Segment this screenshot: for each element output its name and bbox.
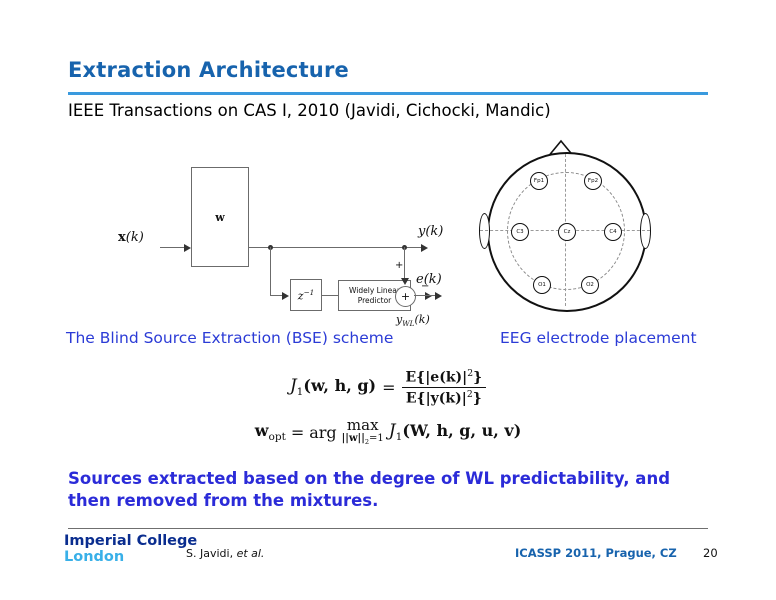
- imperial-college-logo: Imperial College London: [64, 533, 197, 565]
- logo-line-2: London: [64, 549, 197, 565]
- equation1-equals: =: [382, 378, 395, 397]
- page-title: Extraction Architecture: [68, 58, 349, 82]
- summing-junction: +: [395, 286, 416, 307]
- footer-page-number: 20: [703, 546, 718, 560]
- electrode-o1-label: O1: [538, 282, 546, 288]
- footer-divider: [68, 528, 708, 529]
- delay-block-label: z−1: [298, 288, 314, 303]
- electrode-c3[interactable]: C3: [511, 223, 529, 241]
- logo-line-1: Imperial College: [64, 533, 197, 549]
- page-subtitle: IEEE Transactions on CAS I, 2010 (Javidi…: [68, 101, 551, 120]
- electrode-c4[interactable]: C4: [604, 223, 622, 241]
- electrode-cz-label: Cz: [564, 229, 571, 235]
- title-divider: [68, 92, 708, 95]
- weight-block-label: w: [215, 211, 224, 224]
- bse-block-diagram: x(k) w y(k) z−1 Widely Linear Predicto: [118, 150, 448, 330]
- feedback-wire-down: [404, 247, 405, 279]
- equation2-max-label: max: [347, 418, 379, 433]
- equation1-lhs: J1(w, h, g): [290, 376, 376, 398]
- input-wire: [160, 247, 186, 248]
- equation-optimization: wopt = arg max ||w||2=1 J1(W, h, g, u, v…: [0, 418, 776, 446]
- ear-right-icon: [640, 213, 651, 249]
- equation2-max-operator: max ||w||2=1: [342, 418, 384, 446]
- footer-author-etal: et al.: [237, 547, 265, 560]
- output-wire: [249, 247, 424, 248]
- weight-block: w: [191, 167, 249, 267]
- footer-conference: ICASSP 2011, Prague, CZ: [515, 546, 677, 560]
- figures-region: x(k) w y(k) z−1 Widely Linear Predicto: [0, 140, 776, 355]
- ear-left-icon: [479, 213, 490, 249]
- predictor-label-line2: Predictor: [358, 296, 392, 305]
- caption-eeg-placement: EEG electrode placement: [500, 329, 697, 347]
- equations-region: J1(w, h, g) = E{|e(k)|2} E{|y(k)|2} wopt…: [0, 368, 776, 446]
- electrode-fp1-label: Fp1: [534, 178, 544, 184]
- summing-junction-symbol: +: [401, 290, 410, 303]
- equation2-lhs: wopt: [255, 421, 286, 443]
- input-signal-label: x(k): [118, 230, 144, 245]
- footer-author: S. Javidi, et al.: [186, 547, 264, 560]
- delay-to-predictor-wire: [322, 295, 338, 296]
- equation1-denominator: E{|y(k)|2}: [402, 387, 486, 407]
- delay-block: z−1: [290, 279, 322, 311]
- error-arrowhead: [435, 292, 442, 300]
- equation2-objective: J1(W, h, g, u, v): [389, 421, 521, 443]
- equation1-fraction: E{|e(k)|2} E{|y(k)|2}: [402, 368, 487, 406]
- branch-wire-down: [270, 247, 271, 295]
- electrode-fp1[interactable]: Fp1: [530, 172, 548, 190]
- electrode-fp2[interactable]: Fp2: [584, 172, 602, 190]
- output-arrowhead: [421, 244, 428, 252]
- sum-plus-arrowhead: [401, 278, 409, 285]
- electrode-c4-label: C4: [609, 229, 616, 235]
- input-arrowhead: [184, 244, 191, 252]
- electrode-o2-label: O2: [586, 282, 594, 288]
- predictor-label-line1: Widely Linear: [349, 286, 400, 295]
- output-signal-label: y(k): [418, 224, 443, 239]
- electrode-o1[interactable]: O1: [533, 276, 551, 294]
- electrode-cz[interactable]: Cz: [558, 223, 576, 241]
- equation2-equals: =: [291, 423, 304, 442]
- error-signal-label: e(k): [416, 272, 442, 287]
- electrode-fp2-label: Fp2: [588, 178, 598, 184]
- electrode-c3-label: C3: [516, 229, 523, 235]
- equation1-numerator: E{|e(k)|2}: [402, 368, 487, 387]
- prediction-signal-label: yWL(k): [396, 313, 430, 328]
- footer-author-name: S. Javidi,: [186, 547, 233, 560]
- equation2-constraint: ||w||2=1: [342, 434, 384, 446]
- conclusion-text: Sources extracted based on the degree of…: [68, 468, 708, 513]
- delay-input-arrowhead: [282, 292, 289, 300]
- eeg-head-diagram: Fp1 Fp2 C3 Cz C4 O1 O2: [470, 140, 660, 335]
- caption-bse-scheme: The Blind Source Extraction (BSE) scheme: [66, 329, 393, 347]
- equation-cost-function: J1(w, h, g) = E{|e(k)|2} E{|y(k)|2}: [0, 368, 776, 406]
- electrode-o2[interactable]: O2: [581, 276, 599, 294]
- equation2-arg: arg: [309, 423, 336, 442]
- sum-plus-sign: +: [395, 260, 403, 271]
